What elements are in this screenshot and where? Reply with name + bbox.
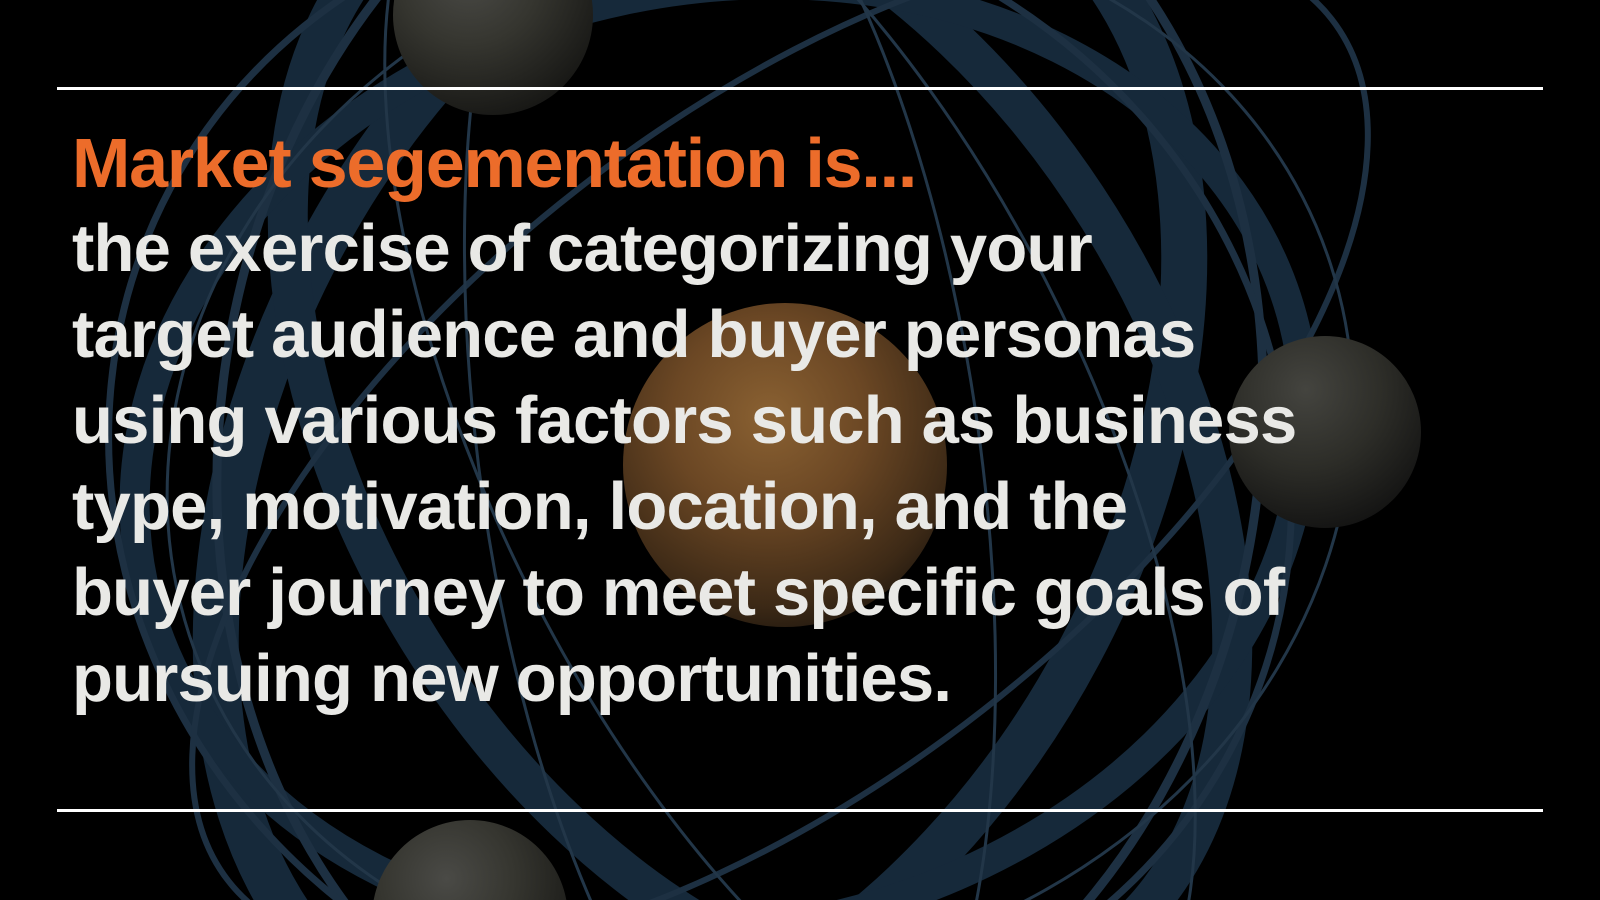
body-line-2: target audience and buyer personas [72,292,1532,378]
sphere-dark-bottom [372,820,568,900]
slide-canvas: Market segementation is... the exercise … [0,0,1600,900]
page-title: Market segementation is... [72,120,1532,206]
divider-top [57,87,1543,90]
sphere-dark-top [393,0,593,115]
slide-text-block: Market segementation is... the exercise … [72,120,1532,722]
body-line-6: pursuing new opportunities. [72,636,1532,722]
divider-bottom [57,809,1543,812]
body-line-1: the exercise of categorizing your [72,206,1532,292]
body-line-5: buyer journey to meet specific goals of [72,550,1532,636]
body-line-3: using various factors such as business [72,378,1532,464]
body-line-4: type, motivation, location, and the [72,464,1532,550]
